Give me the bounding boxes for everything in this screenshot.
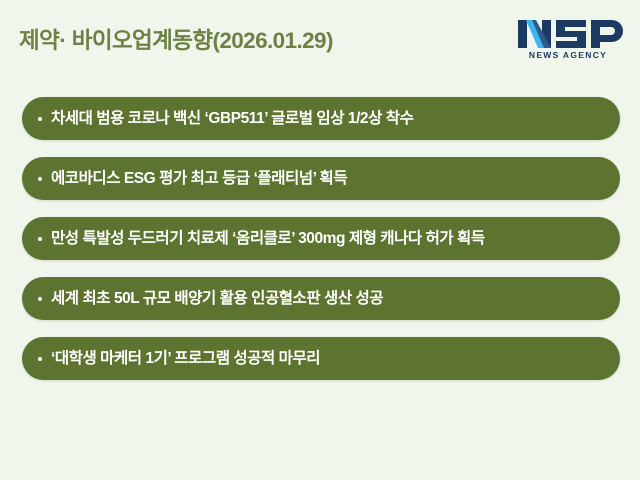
bullet-dot-icon <box>38 297 42 301</box>
slide-header: 제약· 바이오업계동향(2026.01.29) NEWS AGENCY <box>0 0 640 88</box>
list-item: 차세대 범용 코로나 백신 ‘GBP511’ 글로벌 임상 1/2상 착수 <box>22 97 620 140</box>
nsp-logo-caption: NEWS AGENCY <box>512 51 624 60</box>
list-item: 만성 특발성 두드러기 치료제 ‘옴리클로’ 300mg 제형 캐나다 허가 획… <box>22 217 620 260</box>
bullet-dot-icon <box>38 177 42 181</box>
list-item-label: 차세대 범용 코로나 백신 ‘GBP511’ 글로벌 임상 1/2상 착수 <box>51 111 602 127</box>
page-title: 제약· 바이오업계동향(2026.01.29) <box>19 29 333 54</box>
list-item-label: 세계 최초 50L 규모 배양기 활용 인공혈소판 생산 성공 <box>51 291 602 307</box>
list-item-label: 에코바디스 ESG 평가 최고 등급 ‘플래티넘’ 획득 <box>51 171 602 187</box>
slide-canvas: 제약· 바이오업계동향(2026.01.29) NEWS AGENCY 차세대 … <box>0 0 640 480</box>
nsp-logo-mark <box>512 17 624 51</box>
list-item-label: 만성 특발성 두드러기 치료제 ‘옴리클로’ 300mg 제형 캐나다 허가 획… <box>51 231 602 247</box>
bullet-dot-icon <box>38 357 42 361</box>
list-item: 세계 최초 50L 규모 배양기 활용 인공혈소판 생산 성공 <box>22 277 620 320</box>
bullet-list: 차세대 범용 코로나 백신 ‘GBP511’ 글로벌 임상 1/2상 착수 에코… <box>22 97 620 380</box>
bullet-dot-icon <box>38 117 42 121</box>
nsp-logo: NEWS AGENCY <box>512 17 624 67</box>
list-item-label: ‘대학생 마케터 1기’ 프로그램 성공적 마무리 <box>51 351 602 367</box>
list-item: ‘대학생 마케터 1기’ 프로그램 성공적 마무리 <box>22 337 620 380</box>
list-item: 에코바디스 ESG 평가 최고 등급 ‘플래티넘’ 획득 <box>22 157 620 200</box>
bullet-dot-icon <box>38 237 42 241</box>
